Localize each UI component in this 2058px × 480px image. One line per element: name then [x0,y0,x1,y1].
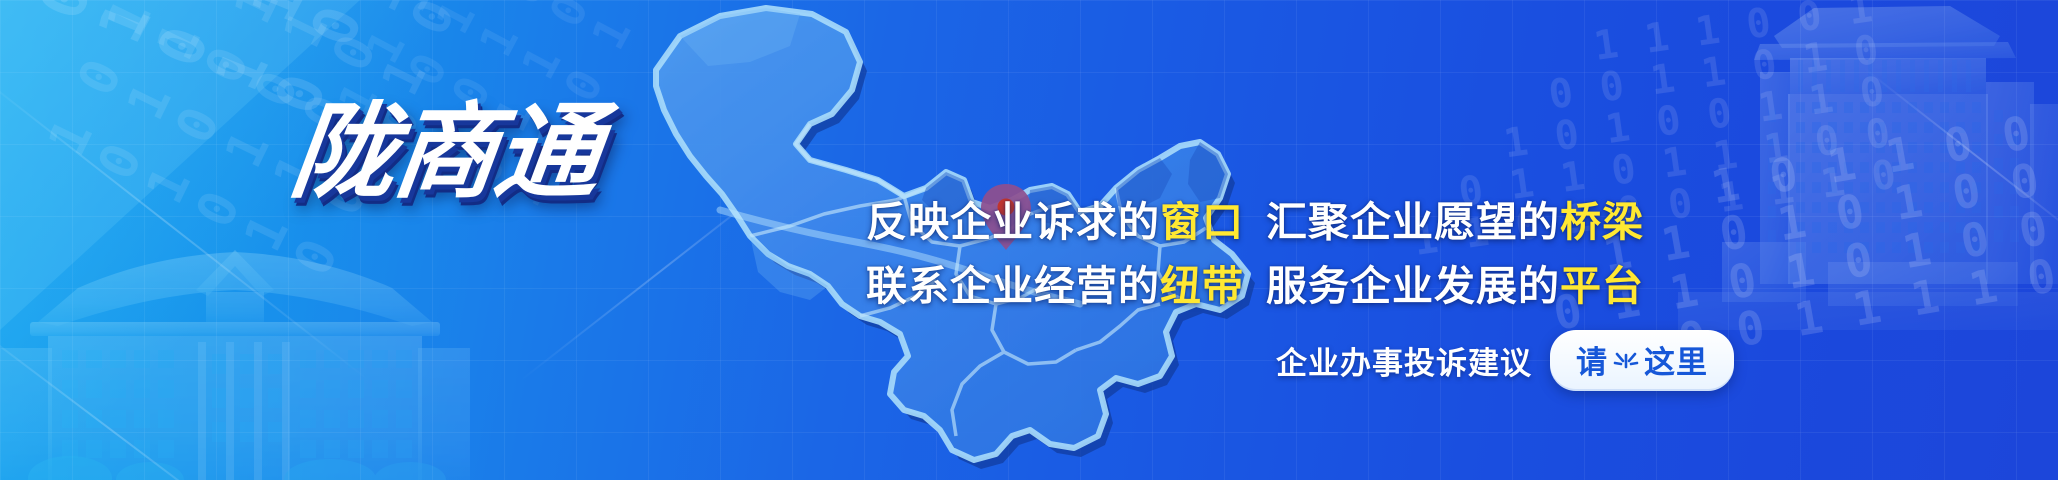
click-here-button[interactable]: 请 这里 [1550,330,1734,391]
slogan-2-seg-2: 服务企业发展的 [1266,262,1560,310]
cta-label: 企业办事投诉建议 [1276,338,1532,383]
slogan-2-highlight-1: 纽带 [1160,262,1244,310]
page-title: 陇商通 [286,100,639,204]
cta-row: 企业办事投诉建议 请 这里 [1276,330,1734,391]
sparkle-click-icon [1612,346,1640,374]
slogan-2-seg-1: 联系企业经营的 [866,262,1160,310]
title-block: 陇商通 [292,100,632,212]
click-here-suffix: 这里 [1644,337,1708,382]
click-here-prefix: 请 [1576,337,1608,382]
slogan-1-highlight-1: 窗口 [1160,198,1244,246]
slogan-line-2: 联系企业经营的纽带服务企业发展的平台 [866,252,1644,312]
slogan-1-seg-1: 反映企业诉求的 [866,198,1160,246]
slogan-1-seg-2: 汇聚企业愿望的 [1266,198,1560,246]
banner-root: 1 0 1 0 1 0 1 1 0 0 1 1 0 0 1 1 0 1 0 1 … [0,0,2058,480]
slogan-line-1: 反映企业诉求的窗口汇聚企业愿望的桥梁 [866,188,1644,248]
slogan-2-highlight-2: 平台 [1560,262,1644,310]
slogan-1-highlight-2: 桥梁 [1560,198,1644,246]
